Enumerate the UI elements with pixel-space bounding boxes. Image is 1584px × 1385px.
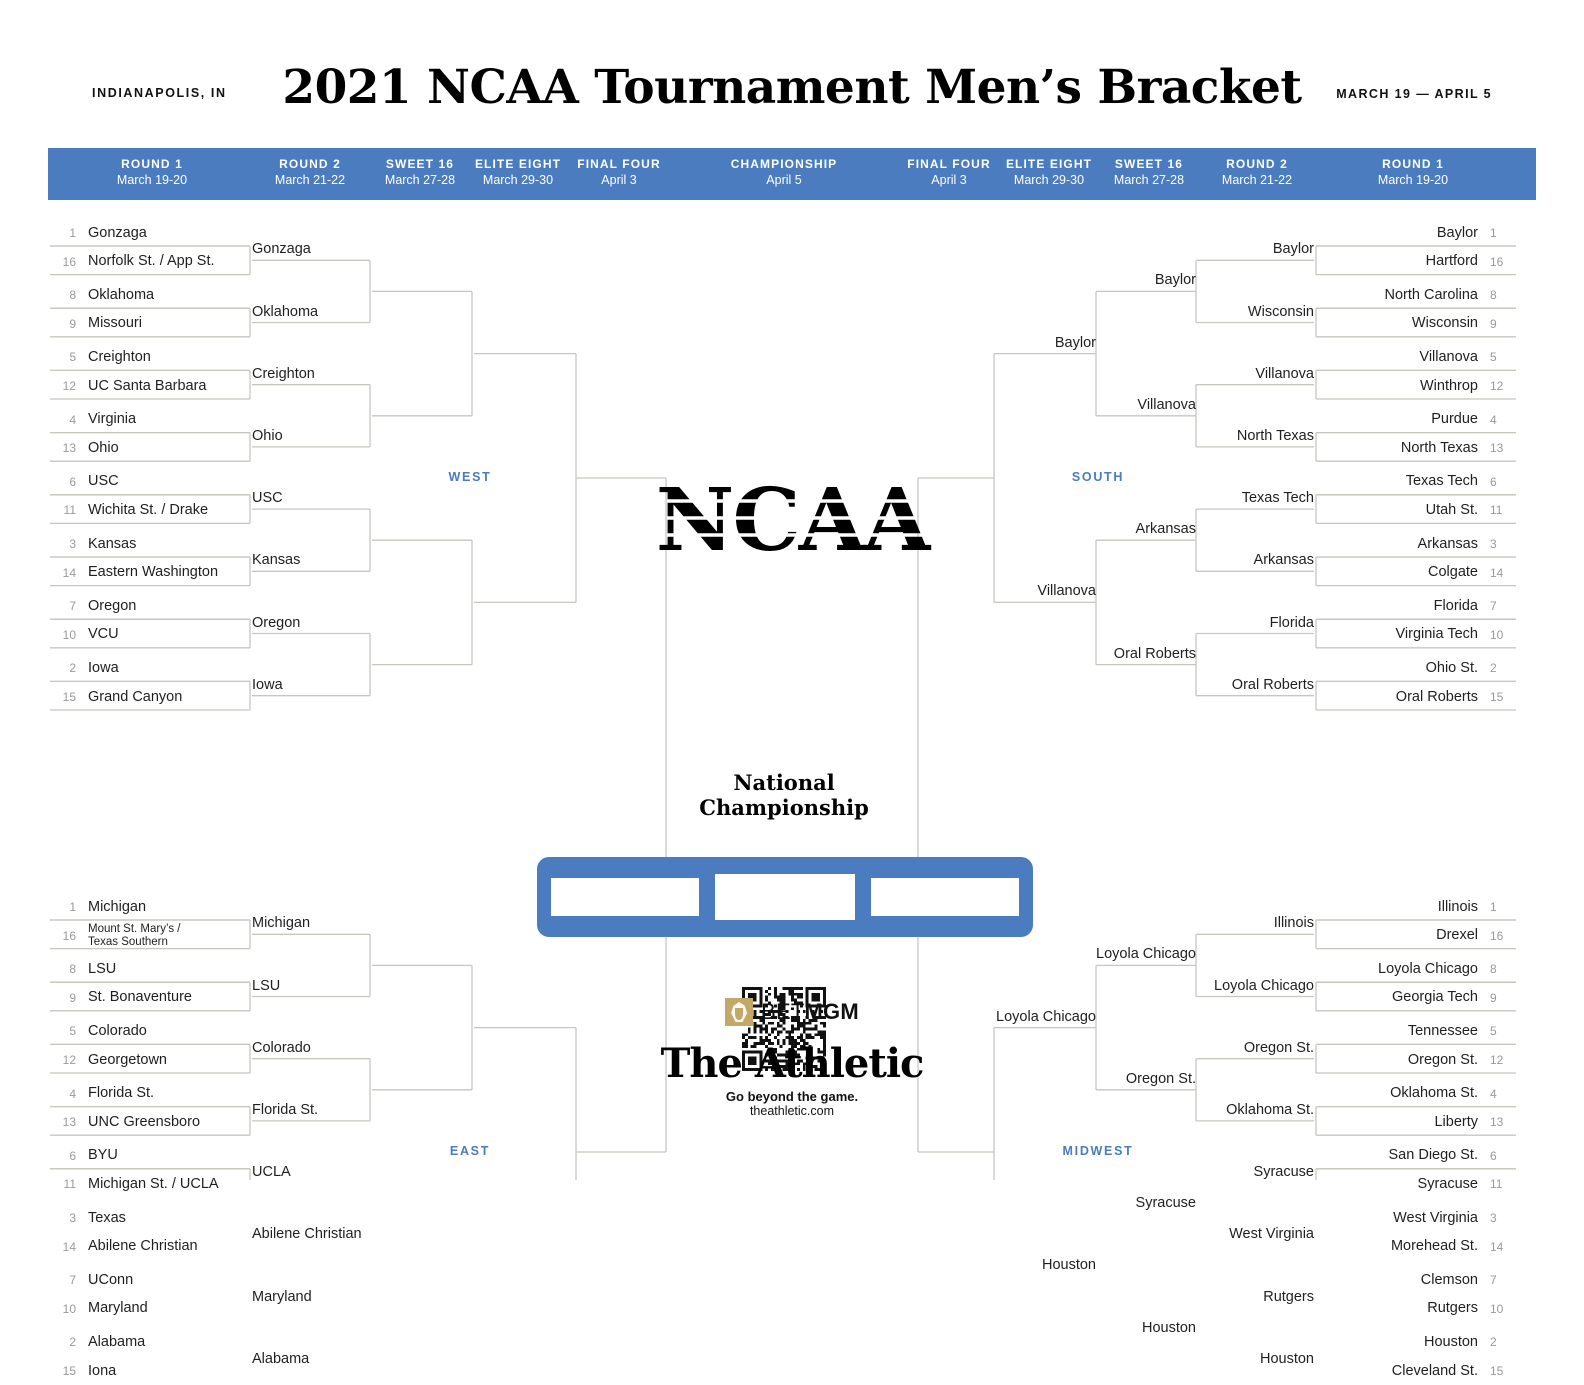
round-header-10: ROUND 1March 19-20 <box>1323 156 1503 189</box>
advancing-team-slot[interactable]: North Texas <box>1196 426 1314 446</box>
advancing-team-slot[interactable]: Baylor <box>1096 270 1196 290</box>
team-name: LSU <box>76 962 116 977</box>
round1-team-row[interactable]: 11Michigan St. / UCLA <box>50 1170 250 1198</box>
round1-team-row[interactable]: 10VCU <box>50 621 250 649</box>
advancing-team-slot[interactable] <box>474 333 576 353</box>
advancing-team-slot[interactable] <box>372 644 472 664</box>
team-name: Winthrop <box>1420 379 1490 394</box>
team-seed: 6 <box>50 1149 76 1163</box>
advancing-team-slot[interactable]: Villanova <box>1196 364 1314 384</box>
round-header-5: CHAMPIONSHIPApril 5 <box>694 156 874 189</box>
team-seed: 7 <box>50 599 76 613</box>
team-name: Rutgers <box>1427 1301 1490 1316</box>
round1-team-row[interactable]: 10Virginia Tech <box>1316 621 1516 649</box>
round1-team-row[interactable]: 9Missouri <box>50 310 250 338</box>
team-seed: 5 <box>50 350 76 364</box>
team-seed: 3 <box>1490 1211 1516 1225</box>
team-seed: 3 <box>50 1211 76 1225</box>
advancing-team-slot[interactable]: Houston <box>994 1255 1096 1275</box>
round1-team-row[interactable]: 6Texas Tech <box>1316 468 1516 496</box>
team-seed: 14 <box>50 566 76 580</box>
betmgm-lion-icon <box>725 998 753 1026</box>
advancing-team-slot[interactable]: Houston <box>1096 1318 1196 1338</box>
team-name: Villanova <box>1419 350 1490 365</box>
round1-team-row[interactable]: 3West Virginia <box>1316 1204 1516 1232</box>
round1-team-row[interactable]: 16Hartford <box>1316 248 1516 276</box>
advancing-team-slot[interactable]: Iowa <box>252 675 370 695</box>
round1-team-row[interactable]: 1Gonzaga <box>50 219 250 247</box>
advancing-team-slot[interactable]: Baylor <box>1196 239 1314 259</box>
advancing-team-slot[interactable]: Florida <box>1196 613 1314 633</box>
team-name: Oral Roberts <box>1396 690 1490 705</box>
round1-team-row[interactable]: 2Iowa <box>50 654 250 682</box>
round1-team-row[interactable]: 3Arkansas <box>1316 530 1516 558</box>
region-label-south: SOUTH <box>1038 470 1158 484</box>
team-name: Tennessee <box>1408 1024 1490 1039</box>
region-label-midwest: MIDWEST <box>1038 1144 1158 1158</box>
betmgm-mgm-text: MGM <box>805 999 859 1024</box>
team-name: Ohio St. <box>1426 661 1490 676</box>
team-name: Hartford <box>1426 254 1490 269</box>
team-name: Michigan <box>76 900 146 915</box>
round-header-band: ROUND 1March 19-20ROUND 2March 21-22SWEE… <box>48 148 1536 200</box>
masthead: INDIANAPOLIS, IN 2021 NCAA Tournament Me… <box>0 0 1584 148</box>
advancing-team-slot[interactable] <box>372 270 472 290</box>
advancing-team-slot[interactable]: Ohio <box>252 426 370 446</box>
team-seed: 13 <box>1490 441 1516 455</box>
advancing-team-slot[interactable]: Villanova <box>1096 395 1196 415</box>
team-name: USC <box>76 474 119 489</box>
team-seed: 7 <box>50 1273 76 1287</box>
ncaa-logo-icon: NCAA <box>622 478 962 568</box>
round1-team-row[interactable]: 12Winthrop <box>1316 372 1516 400</box>
round1-team-row[interactable]: 2Ohio St. <box>1316 654 1516 682</box>
round1-team-row[interactable]: 7Florida <box>1316 592 1516 620</box>
advancing-team-slot[interactable]: UCLA <box>252 1162 370 1182</box>
team-name: Virginia Tech <box>1396 627 1491 642</box>
team-seed: 9 <box>1490 317 1516 331</box>
advancing-team-slot[interactable]: Syracuse <box>1096 1193 1196 1213</box>
team-name: North Carolina <box>1385 288 1491 303</box>
team-seed: 8 <box>50 962 76 976</box>
round-header-date: March 19-20 <box>62 172 242 189</box>
advancing-team-slot[interactable]: Alabama <box>252 1349 370 1369</box>
team-name: Drexel <box>1436 928 1490 943</box>
team-seed: 12 <box>50 379 76 393</box>
team-name: Clemson <box>1421 1273 1490 1288</box>
round1-team-row[interactable]: 1Illinois <box>1316 893 1516 921</box>
team-seed: 8 <box>1490 962 1516 976</box>
team-seed: 14 <box>1490 566 1516 580</box>
round1-team-row[interactable]: 15Cleveland St. <box>1316 1357 1516 1385</box>
advancing-team-slot[interactable]: Kansas <box>252 550 370 570</box>
team-name: Loyola Chicago <box>1378 962 1490 977</box>
team-name: Gonzaga <box>76 226 147 241</box>
advancing-team-slot[interactable] <box>372 1193 472 1213</box>
team-name: Missouri <box>76 316 142 331</box>
advancing-team-slot[interactable]: Loyola Chicago <box>1196 976 1314 996</box>
championship-slot-group[interactable] <box>537 857 1033 937</box>
advancing-team-slot[interactable]: Texas Tech <box>1196 488 1314 508</box>
team-seed: 16 <box>50 929 76 943</box>
betmgm-bet-text: BET <box>761 999 804 1024</box>
team-seed: 4 <box>50 413 76 427</box>
advancing-team-slot[interactable]: Rutgers <box>1196 1287 1314 1307</box>
team-seed: 11 <box>1490 1177 1516 1191</box>
natchamp-line1: National <box>634 770 934 795</box>
region-label-east: EAST <box>410 1144 530 1158</box>
round1-team-row[interactable]: 7UConn <box>50 1266 250 1294</box>
team-seed: 11 <box>50 503 76 517</box>
advancing-team-slot[interactable] <box>474 1255 576 1275</box>
team-seed: 3 <box>50 537 76 551</box>
advancing-team-slot[interactable]: Arkansas <box>1096 519 1196 539</box>
team-seed: 10 <box>50 1302 76 1316</box>
team-seed: 2 <box>50 661 76 675</box>
advancing-team-slot[interactable] <box>372 395 472 415</box>
round1-team-row[interactable]: 8Loyola Chicago <box>1316 955 1516 983</box>
betmgm-wordmark: BETMGM <box>761 999 859 1025</box>
region-label-west: WEST <box>410 470 530 484</box>
round-header-label: ROUND 1 <box>62 156 242 172</box>
advancing-team-slot[interactable]: Syracuse <box>1196 1162 1314 1182</box>
round1-team-row[interactable]: 16Mount St. Mary’s /Texas Southern <box>50 922 250 950</box>
team-name: Grand Canyon <box>76 690 182 705</box>
team-name: Oregon <box>76 599 136 614</box>
advancing-team-slot[interactable]: Oklahoma <box>252 302 370 322</box>
team-name: North Texas <box>1401 441 1490 456</box>
round1-team-row[interactable]: 9Wisconsin <box>1316 310 1516 338</box>
round-header-0: ROUND 1March 19-20 <box>62 156 242 189</box>
round1-team-row[interactable]: 2Alabama <box>50 1328 250 1356</box>
team-seed: 2 <box>50 1335 76 1349</box>
team-name: Colorado <box>76 1024 147 1039</box>
team-seed: 12 <box>1490 379 1516 393</box>
team-seed: 16 <box>50 255 76 269</box>
team-name: Creighton <box>76 350 151 365</box>
advancing-team-slot[interactable]: Houston <box>1196 1349 1314 1369</box>
round1-team-row[interactable]: 15Oral Roberts <box>1316 683 1516 711</box>
round1-team-row[interactable]: 14Morehead St. <box>1316 1233 1516 1261</box>
advancing-team-slot[interactable]: Abilene Christian <box>252 1224 370 1244</box>
advancing-team-slot[interactable]: LSU <box>252 976 370 996</box>
team-seed: 7 <box>1490 1273 1516 1287</box>
round1-team-row[interactable]: 13Ohio <box>50 434 250 462</box>
team-seed: 6 <box>1490 1149 1516 1163</box>
team-seed: 16 <box>1490 255 1516 269</box>
team-seed: 6 <box>50 475 76 489</box>
team-name: Norfolk St. / App St. <box>76 254 215 269</box>
advancing-team-slot[interactable]: Maryland <box>252 1287 370 1307</box>
team-seed: 1 <box>1490 900 1516 914</box>
team-name: Abilene Christian <box>76 1239 198 1254</box>
team-name: Utah St. <box>1426 503 1490 518</box>
team-name: Colgate <box>1428 565 1490 580</box>
tagline: Go beyond the game. <box>0 1089 1584 1104</box>
round1-team-row[interactable]: 3Texas <box>50 1204 250 1232</box>
round1-team-row[interactable]: 6USC <box>50 468 250 496</box>
round-header-date: March 21-22 <box>1167 172 1347 189</box>
advancing-team-slot[interactable]: Villanova <box>994 581 1096 601</box>
round1-team-row[interactable]: 2Houston <box>1316 1328 1516 1356</box>
team-name: Eastern Washington <box>76 565 218 580</box>
round1-team-row[interactable]: 1Baylor <box>1316 219 1516 247</box>
team-name: Arkansas <box>1418 537 1490 552</box>
team-seed: 15 <box>50 690 76 704</box>
team-seed: 2 <box>1490 1335 1516 1349</box>
the-athletic-logo: The Athletic <box>0 1040 1584 1087</box>
round1-team-row[interactable]: 11Wichita St. / Drake <box>50 496 250 524</box>
team-name: Texas Tech <box>1406 474 1490 489</box>
round-header-label: ROUND 2 <box>1167 156 1347 172</box>
national-championship-label: National Championship <box>634 770 934 820</box>
round1-team-row[interactable]: 8North Carolina <box>1316 281 1516 309</box>
round1-team-row[interactable]: 16Norfolk St. / App St. <box>50 248 250 276</box>
championship-right-slot[interactable] <box>871 878 1019 916</box>
betmgm-sponsor: BETMGM <box>0 998 1584 1026</box>
round1-team-row[interactable]: 4Purdue <box>1316 406 1516 434</box>
championship-left-slot[interactable] <box>551 878 699 916</box>
team-seed: 11 <box>50 1177 76 1191</box>
round1-team-row[interactable]: 7Oregon <box>50 592 250 620</box>
team-name: Virginia <box>76 412 136 427</box>
team-seed: 1 <box>50 226 76 240</box>
advancing-team-slot[interactable]: Oral Roberts <box>1196 675 1314 695</box>
round1-team-row[interactable]: 5Creighton <box>50 343 250 371</box>
team-seed: 9 <box>50 317 76 331</box>
round-header-9: ROUND 2March 21-22 <box>1167 156 1347 189</box>
team-name: West Virginia <box>1393 1211 1490 1226</box>
advancing-team-slot[interactable] <box>474 581 576 601</box>
team-name: Wisconsin <box>1412 316 1490 331</box>
round1-team-row[interactable]: 14Colgate <box>1316 559 1516 587</box>
round1-team-row[interactable]: 7Clemson <box>1316 1266 1516 1294</box>
team-seed: 7 <box>1490 599 1516 613</box>
advancing-team-slot[interactable]: Oral Roberts <box>1096 644 1196 664</box>
team-name: Michigan St. / UCLA <box>76 1177 219 1192</box>
round-header-label: ROUND 1 <box>1323 156 1503 172</box>
team-name: Morehead St. <box>1391 1239 1490 1254</box>
advancing-team-slot[interactable] <box>372 1318 472 1338</box>
team-name: UConn <box>76 1273 133 1288</box>
advancing-team-slot[interactable]: Wisconsin <box>1196 302 1314 322</box>
team-seed: 16 <box>1490 929 1516 943</box>
team-seed: 8 <box>50 288 76 302</box>
team-seed: 5 <box>1490 350 1516 364</box>
team-name: UC Santa Barbara <box>76 379 206 394</box>
team-seed: 15 <box>50 1364 76 1378</box>
team-seed: 13 <box>50 441 76 455</box>
round1-team-row[interactable]: 12UC Santa Barbara <box>50 372 250 400</box>
team-name: Purdue <box>1431 412 1490 427</box>
round-header-date: March 19-20 <box>1323 172 1503 189</box>
team-seed: 4 <box>1490 413 1516 427</box>
championship-winner-slot[interactable] <box>715 874 855 920</box>
website-url[interactable]: theathletic.com <box>0 1104 1584 1118</box>
advancing-team-slot[interactable] <box>372 944 472 964</box>
team-name: Cleveland St. <box>1392 1364 1490 1379</box>
round1-team-row[interactable]: 15Iona <box>50 1357 250 1385</box>
team-seed: 1 <box>1490 226 1516 240</box>
team-name: Mount St. Mary’s /Texas Southern <box>76 923 180 949</box>
team-seed: 15 <box>1490 690 1516 704</box>
team-name: Alabama <box>76 1335 145 1350</box>
team-name: Iona <box>76 1364 116 1379</box>
round1-team-row[interactable]: 8LSU <box>50 955 250 983</box>
team-name: Wichita St. / Drake <box>76 503 208 518</box>
team-seed: 14 <box>50 1240 76 1254</box>
team-name: San Diego St. <box>1389 1148 1490 1163</box>
round1-team-row[interactable]: 16Drexel <box>1316 922 1516 950</box>
advancing-team-slot[interactable]: Illinois <box>1196 913 1314 933</box>
team-seed: 10 <box>1490 628 1516 642</box>
round1-team-row[interactable]: 11Utah St. <box>1316 496 1516 524</box>
round1-team-row[interactable]: 8Oklahoma <box>50 281 250 309</box>
advancing-team-slot[interactable]: Arkansas <box>1196 550 1314 570</box>
natchamp-line2: Championship <box>634 795 934 820</box>
advancing-team-slot[interactable]: Michigan <box>252 913 370 933</box>
team-seed: 15 <box>1490 1364 1516 1378</box>
team-name: Kansas <box>76 537 136 552</box>
round-header-date: April 3 <box>529 172 709 189</box>
round1-team-row[interactable]: 14Eastern Washington <box>50 559 250 587</box>
team-name: Iowa <box>76 661 119 676</box>
bracket-canvas: WEST EAST SOUTH MIDWEST NCAA National Ch… <box>0 200 1584 1180</box>
team-seed: 6 <box>1490 475 1516 489</box>
team-seed: 5 <box>50 1024 76 1038</box>
team-seed: 10 <box>1490 1302 1516 1316</box>
advancing-team-slot[interactable]: Loyola Chicago <box>1096 944 1196 964</box>
round1-team-row[interactable]: 11Syracuse <box>1316 1170 1516 1198</box>
advancing-team-slot[interactable]: USC <box>252 488 370 508</box>
round1-team-row[interactable]: 14Abilene Christian <box>50 1233 250 1261</box>
team-seed: 1 <box>50 900 76 914</box>
team-seed: 8 <box>1490 288 1516 302</box>
round1-team-row[interactable]: 4Virginia <box>50 406 250 434</box>
round1-team-row[interactable]: 1Michigan <box>50 893 250 921</box>
advancing-team-slot[interactable] <box>372 519 472 539</box>
round1-team-row[interactable]: 10Rutgers <box>1316 1295 1516 1323</box>
team-name: BYU <box>76 1148 118 1163</box>
team-name: Illinois <box>1438 900 1490 915</box>
round-header-date: April 5 <box>694 172 874 189</box>
round-header-label: CHAMPIONSHIP <box>694 156 874 172</box>
advancing-team-slot[interactable]: Creighton <box>252 364 370 384</box>
advancing-team-slot[interactable]: Oregon <box>252 613 370 633</box>
advancing-team-slot[interactable]: West Virginia <box>1196 1224 1314 1244</box>
advancing-team-slot[interactable]: Baylor <box>994 333 1096 353</box>
team-name: Maryland <box>76 1301 148 1316</box>
team-name: Oklahoma <box>76 288 154 303</box>
team-seed: 11 <box>1490 503 1516 517</box>
round1-team-row[interactable]: 6BYU <box>50 1142 250 1170</box>
advancing-team-slot[interactable]: Gonzaga <box>252 239 370 259</box>
round1-team-row[interactable]: 13North Texas <box>1316 434 1516 462</box>
svg-text:NCAA: NCAA <box>656 478 932 568</box>
round1-team-row[interactable]: 3Kansas <box>50 530 250 558</box>
round1-team-row[interactable]: 10Maryland <box>50 1295 250 1323</box>
team-name: Florida <box>1434 599 1490 614</box>
team-name: Baylor <box>1437 226 1490 241</box>
team-seed: 5 <box>1490 1024 1516 1038</box>
round1-team-row[interactable]: 15Grand Canyon <box>50 683 250 711</box>
team-name: Ohio <box>76 441 119 456</box>
team-name: Houston <box>1424 1335 1490 1350</box>
round-header-4: FINAL FOURApril 3 <box>529 156 709 189</box>
team-seed: 14 <box>1490 1240 1516 1254</box>
team-seed: 10 <box>50 628 76 642</box>
team-seed: 2 <box>1490 661 1516 675</box>
round-header-label: FINAL FOUR <box>529 156 709 172</box>
team-seed: 3 <box>1490 537 1516 551</box>
round1-team-row[interactable]: 5Villanova <box>1316 343 1516 371</box>
team-name: Syracuse <box>1418 1177 1490 1192</box>
team-name: Texas <box>76 1211 126 1226</box>
round1-team-row[interactable]: 6San Diego St. <box>1316 1142 1516 1170</box>
team-name: VCU <box>76 627 119 642</box>
tournament-date-range: MARCH 19 — APRIL 5 <box>1336 87 1492 101</box>
